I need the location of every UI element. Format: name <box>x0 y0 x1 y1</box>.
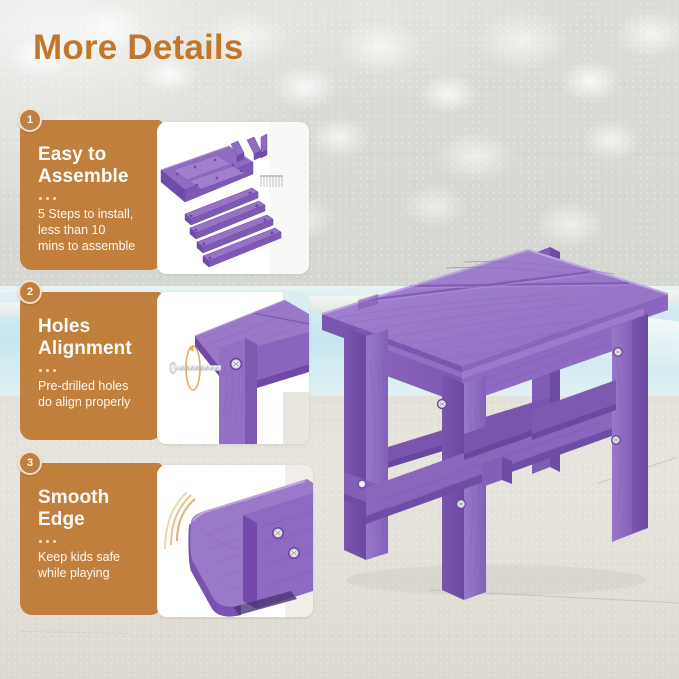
feature-row-3: 3 Smooth Edge Keep kids safe while playi… <box>20 463 162 615</box>
side-table-illustration <box>296 182 679 602</box>
assembly-parts-illustration <box>157 122 309 274</box>
purple-outdoor-side-table <box>296 182 679 602</box>
table-leg-front-left <box>344 326 388 560</box>
feature-dots-1 <box>39 197 152 200</box>
feature-heading-3: Smooth Edge <box>38 487 152 531</box>
hole-alignment-illustration <box>157 292 309 444</box>
screw-head <box>272 527 284 539</box>
feature-number-badge-1: 1 <box>18 108 42 132</box>
assembly-parts-photo <box>157 122 309 274</box>
feature-heading-1: Easy to Assemble <box>38 144 152 188</box>
screw-head <box>230 358 242 370</box>
product-detail-image: More Details 1 Easy to Assemble 5 Steps … <box>0 0 679 679</box>
feature-heading-2: Holes Alignment <box>38 316 152 360</box>
feature-body-2: Pre-drilled holes do align properly <box>38 379 152 411</box>
feature-card-1: 1 Easy to Assemble 5 Steps to install, l… <box>20 120 162 270</box>
page-title: More Details <box>33 28 244 68</box>
screw-head <box>437 399 447 409</box>
screw-head <box>613 347 623 357</box>
screw-head <box>611 435 621 445</box>
feature-row-2: 2 Holes Alignment Pre-drilled holes do a… <box>20 292 162 440</box>
feature-card-2: 2 Holes Alignment Pre-drilled holes do a… <box>20 292 162 440</box>
feature-row-1: 1 Easy to Assemble 5 Steps to install, l… <box>20 120 162 270</box>
feature-number-badge-2: 2 <box>18 280 42 304</box>
feature-number-badge-3: 3 <box>18 451 42 475</box>
screw-head <box>456 499 466 509</box>
feature-card-3: 3 Smooth Edge Keep kids safe while playi… <box>20 463 162 615</box>
feature-dots-3 <box>39 540 152 543</box>
feature-body-1: 5 Steps to install, less than 10 mins to… <box>38 207 152 254</box>
screw-head <box>357 479 366 488</box>
feature-dots-2 <box>39 369 152 372</box>
smooth-edge-photo <box>157 465 313 617</box>
smooth-edge-illustration <box>157 465 313 617</box>
hole-alignment-photo <box>157 292 309 444</box>
feature-body-3: Keep kids safe while playing <box>38 550 152 582</box>
